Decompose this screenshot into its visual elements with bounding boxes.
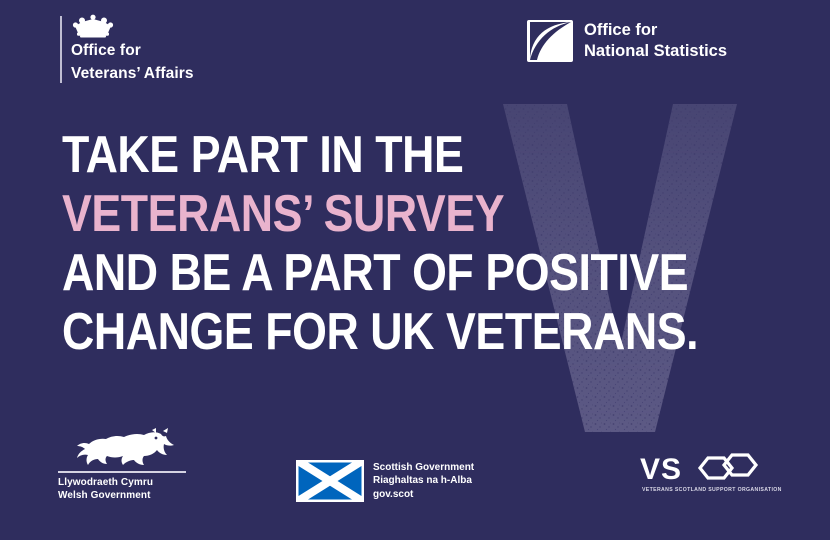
crown-icon xyxy=(71,14,115,38)
logo-scottish-government: Scottish Government Riaghaltas na h-Alba… xyxy=(296,460,474,502)
vso-strapline: VETERANS SCOTLAND SUPPORT ORGANISATION xyxy=(642,487,788,493)
logo-office-for-veterans-affairs: Office for Veterans’ Affairs xyxy=(60,14,194,85)
logo-divider-rule xyxy=(60,16,62,83)
welsh-divider-rule xyxy=(58,471,186,473)
ons-swoosh-icon xyxy=(527,20,573,62)
welsh-label-line2: Welsh Government xyxy=(58,489,188,503)
ova-label-line1: Office for xyxy=(71,41,194,61)
svg-text:VS: VS xyxy=(640,453,682,486)
veterans-survey-banner: Office for Veterans’ Affairs Office for … xyxy=(0,0,830,540)
logo-office-for-national-statistics: Office for National Statistics xyxy=(527,20,727,62)
headline-line-4: CHANGE FOR UK VETERANS. xyxy=(62,307,698,358)
ova-label-line2: Veterans’ Affairs xyxy=(71,64,194,84)
scot-label-line3: gov.scot xyxy=(373,488,474,501)
ons-label-line1: Office for xyxy=(584,20,727,41)
ons-label-line2: National Statistics xyxy=(584,41,727,62)
welsh-label-line1: Llywodraeth Cymru xyxy=(58,476,188,490)
headline: TAKE PART IN THE VETERANS’ SURVEY AND BE… xyxy=(62,130,802,366)
scot-label-line2: Riaghaltas na h-Alba xyxy=(373,474,474,487)
logo-welsh-government: Llywodraeth Cymru Welsh Government xyxy=(58,428,188,503)
scot-label-line1: Scottish Government xyxy=(373,461,474,474)
headline-line-1: TAKE PART IN THE xyxy=(62,130,698,181)
saltire-flag-icon xyxy=(296,460,364,502)
welsh-dragon-icon xyxy=(64,428,176,468)
logo-vso: VS VETERANS SCOTLAND SUPPORT ORGANISATIO… xyxy=(640,452,788,493)
vso-links-icon: VS xyxy=(640,452,782,486)
headline-line-3: AND BE A PART OF POSITIVE xyxy=(62,248,698,299)
headline-line-2: VETERANS’ SURVEY xyxy=(62,189,698,240)
